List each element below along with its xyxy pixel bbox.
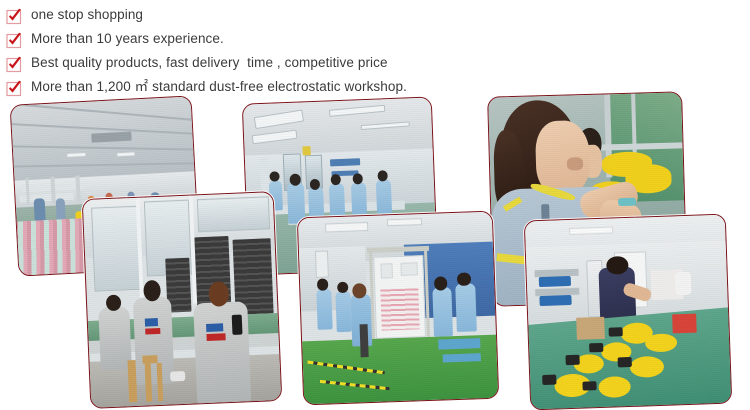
- red-checkmark-icon: [6, 8, 23, 25]
- list-item-label: Best quality products, fast delivery tim…: [31, 53, 388, 73]
- factory-photo-6: [524, 214, 733, 410]
- factory-photo-4: [82, 191, 283, 409]
- feature-bullet-list: one stop shopping More than 10 years exp…: [0, 0, 750, 101]
- red-checkmark-icon: [6, 56, 23, 73]
- list-item-label: one stop shopping: [31, 5, 143, 25]
- factory-photo-5: [297, 211, 499, 406]
- list-item-label: More than 10 years experience.: [31, 29, 224, 49]
- red-checkmark-icon: [6, 32, 23, 49]
- list-item: Best quality products, fast delivery tim…: [6, 53, 750, 77]
- list-item: one stop shopping: [6, 5, 750, 29]
- factory-photo-collage: [0, 92, 750, 410]
- list-item: More than 10 years experience.: [6, 29, 750, 53]
- promo-banner: one stop shopping More than 10 years exp…: [0, 0, 750, 410]
